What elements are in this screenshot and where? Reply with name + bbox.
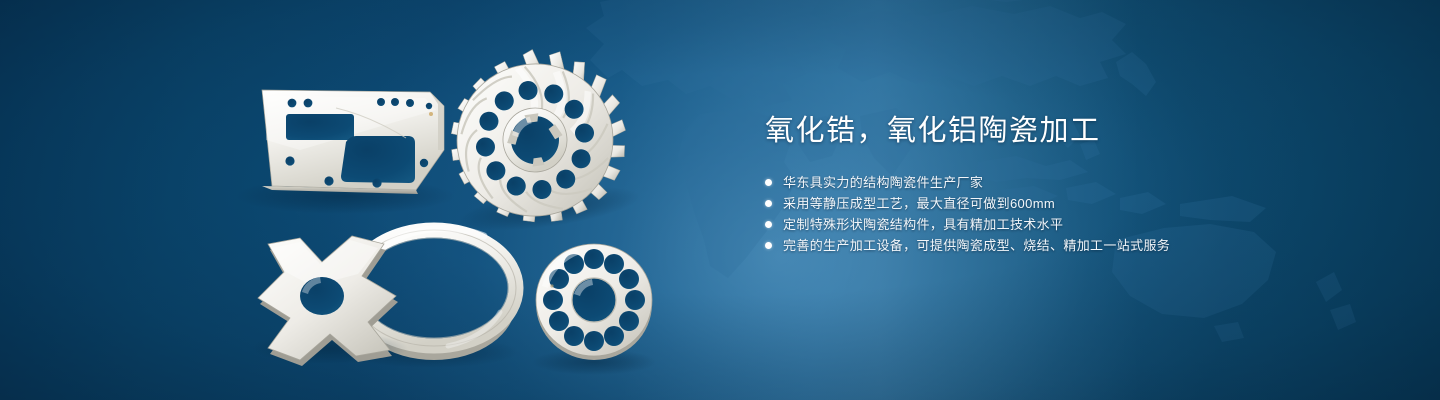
bullet-label: 华东具实力的结构陶瓷件生产厂家 (783, 172, 983, 193)
list-item: 定制特殊形状陶瓷结构件，具有精加工技术水平 (765, 214, 1170, 235)
ceramic-plate-part (235, 90, 455, 214)
banner-copy-block: 氧化锆，氧化铝陶瓷加工 华东具实力的结构陶瓷件生产厂家 采用等静压成型工艺，最大… (765, 0, 1365, 400)
hero-banner: 氧化锆，氧化铝陶瓷加工 华东具实力的结构陶瓷件生产厂家 采用等静压成型工艺，最大… (0, 0, 1440, 400)
bullet-dot-icon (765, 200, 772, 207)
ceramic-impeller-part (435, 38, 642, 240)
bullet-label: 采用等静压成型工艺，最大直径可做到600mm (783, 193, 1055, 214)
list-item: 完善的生产加工设备，可提供陶瓷成型、烧结、精加工一站式服务 (765, 235, 1170, 256)
bullet-label: 定制特殊形状陶瓷结构件，具有精加工技术水平 (783, 214, 1063, 235)
bullet-dot-icon (765, 179, 772, 186)
bullet-label: 完善的生产加工设备，可提供陶瓷成型、烧结、精加工一站式服务 (783, 235, 1170, 256)
list-item: 采用等静压成型工艺，最大直径可做到600mm (765, 193, 1170, 214)
bullet-dot-icon (765, 242, 772, 249)
feature-bullet-list: 华东具实力的结构陶瓷件生产厂家 采用等静压成型工艺，最大直径可做到600mm 定… (765, 172, 1170, 256)
ceramic-perforated-disc-part (532, 244, 656, 375)
bullet-dot-icon (765, 221, 772, 228)
page-title: 氧化锆，氧化铝陶瓷加工 (765, 114, 1101, 148)
product-photo-cluster (0, 0, 720, 400)
list-item: 华东具实力的结构陶瓷件生产厂家 (765, 172, 1170, 193)
ceramic-cross-part (252, 236, 408, 366)
